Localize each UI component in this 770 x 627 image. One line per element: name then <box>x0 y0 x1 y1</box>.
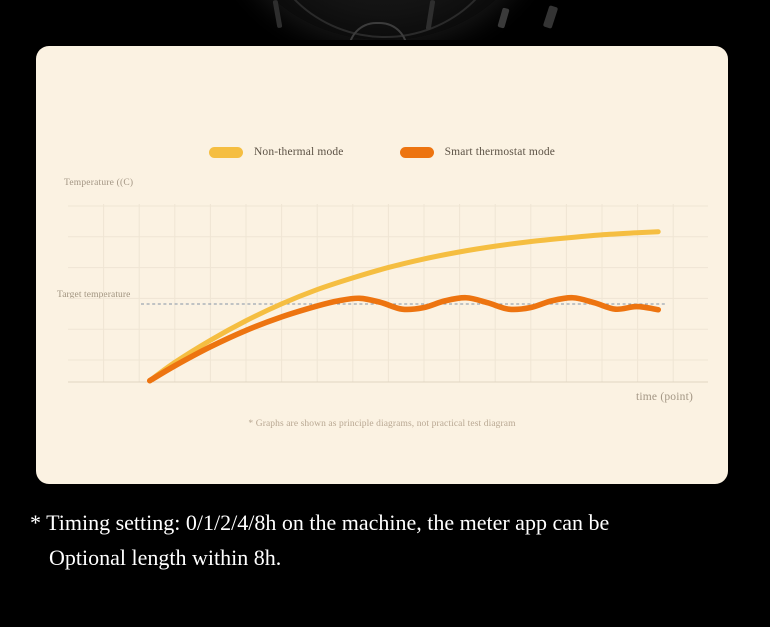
product-detail-bar <box>543 5 558 29</box>
series-line-non-thermal <box>150 232 658 381</box>
bottom-caption: * Timing setting: 0/1/2/4/8h on the mach… <box>30 505 730 575</box>
series-line-smart-thermostat <box>150 298 658 381</box>
chart-footnote: * Graphs are shown as principle diagrams… <box>36 419 728 429</box>
product-photo <box>0 0 770 40</box>
chart-card: Non-thermal mode Smart thermostat mode T… <box>36 46 728 484</box>
caption-line-2: Optional length within 8h. <box>30 540 730 575</box>
product-detail-bar <box>497 7 509 28</box>
caption-line-1: * Timing setting: 0/1/2/4/8h on the mach… <box>30 510 609 535</box>
chart-gridlines <box>68 204 708 382</box>
